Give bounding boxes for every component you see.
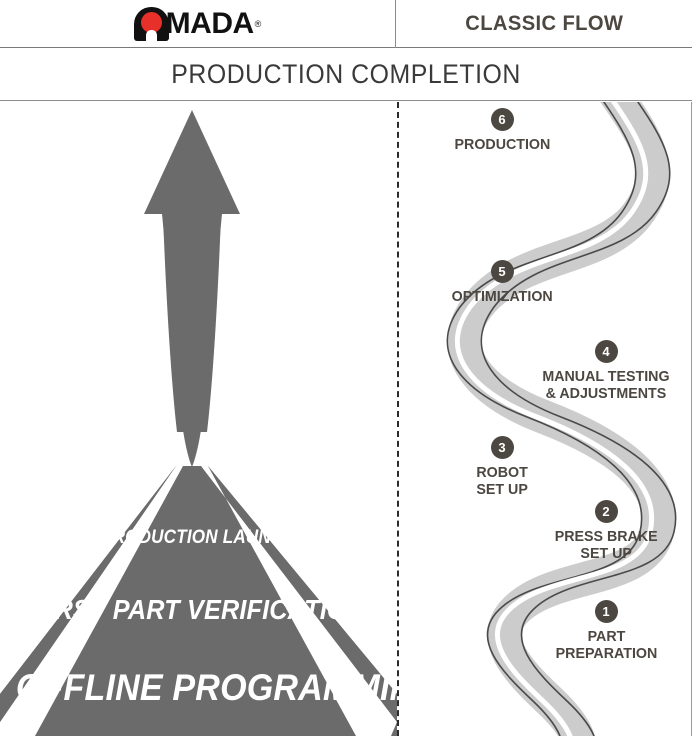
step-3-label: ROBOT SET UP	[476, 464, 527, 498]
step-5-optimization: 5 OPTIMIZATION	[407, 260, 597, 305]
amada-logo: MADA ®	[134, 7, 262, 41]
step-2-press-brake-setup: 2 PRESS BRAKE SET UP	[521, 500, 691, 562]
step-3-robot-setup: 3 ROBOT SET UP	[407, 436, 597, 498]
step-1-badge: 1	[595, 600, 618, 623]
road-label-production-launch: PRODUCTION LAUNCH	[20, 527, 377, 549]
amada-logo-wordmark: MADA	[166, 9, 254, 39]
road-label-first-part-verification: FIRST PART VERIFICATION	[20, 594, 377, 626]
step-4-badge: 4	[595, 340, 618, 363]
step-6-badge: 6	[491, 108, 514, 131]
step-2-badge: 2	[595, 500, 618, 523]
road-label-offline-programming: OFFLINE PROGRAMMING	[16, 667, 381, 709]
step-2-label: PRESS BRAKE SET UP	[555, 528, 658, 562]
amada-logo-trademark: ®	[255, 19, 262, 29]
production-completion-band: PRODUCTION COMPLETION	[0, 49, 692, 101]
infographic-page: MADA ® CLASSIC FLOW PRODUCTION COMPLETIO…	[0, 0, 692, 736]
step-4-label: MANUAL TESTING & ADJUSTMENTS	[542, 368, 669, 402]
step-5-badge: 5	[491, 260, 514, 283]
left-panel: PRODUCTION LAUNCH FIRST PART VERIFICATIO…	[0, 102, 397, 736]
right-panel: 6 PRODUCTION 5 OPTIMIZATION 4 MANUAL TES…	[399, 102, 692, 736]
production-completion-title: PRODUCTION COMPLETION	[171, 59, 521, 90]
header-logo-cell: MADA ®	[0, 0, 396, 48]
step-4-manual-testing: 4 MANUAL TESTING & ADJUSTMENTS	[521, 340, 691, 402]
step-6-production: 6 PRODUCTION	[407, 108, 597, 153]
amada-logo-mark-icon	[134, 7, 169, 41]
header-title-cell: CLASSIC FLOW	[396, 0, 692, 48]
step-6-label: PRODUCTION	[454, 136, 550, 153]
offline-programming-arrow-graphic	[0, 102, 397, 736]
header-bar: MADA ® CLASSIC FLOW	[0, 0, 692, 48]
classic-flow-title: CLASSIC FLOW	[465, 12, 623, 36]
step-1-part-preparation: 1 PART PREPARATION	[521, 600, 691, 662]
step-5-label: OPTIMIZATION	[451, 288, 552, 305]
step-1-label: PART PREPARATION	[555, 628, 657, 662]
step-3-badge: 3	[491, 436, 514, 459]
body-area: PRODUCTION LAUNCH FIRST PART VERIFICATIO…	[0, 102, 692, 736]
